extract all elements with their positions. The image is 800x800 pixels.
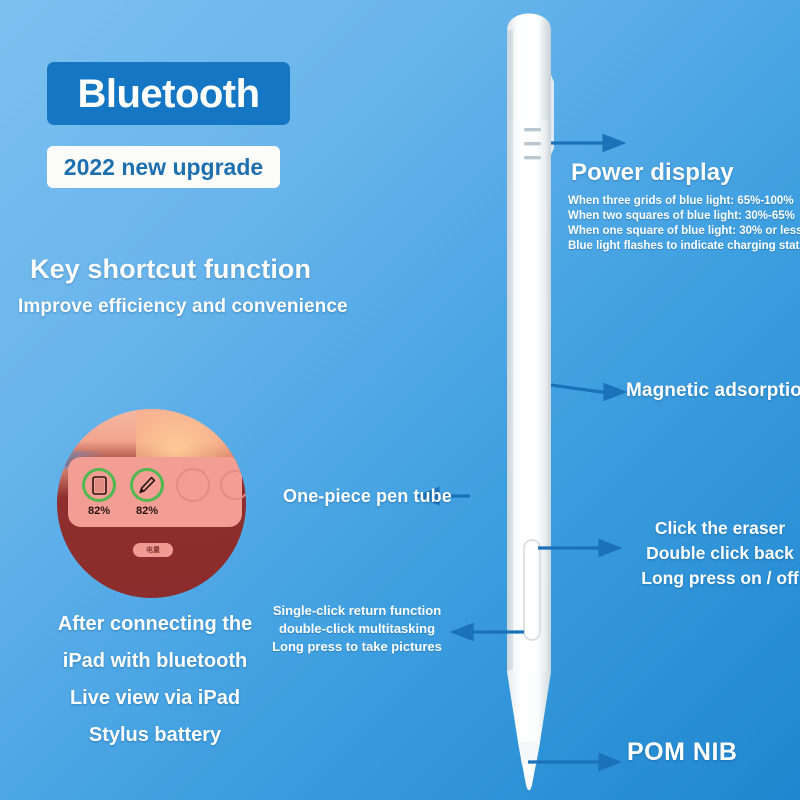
power-display-line: When two squares of blue light: 30%-65% bbox=[568, 209, 800, 224]
infographic-canvas: Bluetooth 2022 new upgrade Key shortcut … bbox=[0, 0, 800, 800]
click-function-line: Single-click return function bbox=[272, 602, 442, 620]
button-function-line: Long press on / off bbox=[640, 566, 800, 591]
button-functions-list: Click the eraser Double click back Long … bbox=[640, 516, 800, 591]
caption-line: iPad with bluetooth bbox=[20, 643, 290, 680]
pencil-icon bbox=[133, 471, 161, 499]
button-function-line: Click the eraser bbox=[640, 516, 800, 541]
bluetooth-badge: Bluetooth bbox=[47, 62, 290, 125]
bluetooth-badge-subtitle-box: 2022 new upgrade bbox=[47, 146, 280, 188]
power-display-line: When one square of blue light: 30% or le… bbox=[568, 224, 800, 239]
click-function-line: Long press to take pictures bbox=[272, 638, 442, 656]
power-display-line: When three grids of blue light: 65%-100% bbox=[568, 194, 800, 209]
battery-pill-label: 电量 bbox=[133, 543, 173, 557]
power-display-line: Blue light flashes to indicate charging … bbox=[568, 239, 800, 254]
caption-line: Live view via iPad bbox=[20, 680, 290, 717]
inset-caption: After connecting the iPad with bluetooth… bbox=[20, 606, 290, 754]
battery-widget-card: 82% 82% bbox=[68, 457, 242, 527]
label-magnetic-adsorption: Magnetic adsorption bbox=[626, 380, 800, 402]
power-display-list: When three grids of blue light: 65%-100%… bbox=[568, 194, 800, 254]
click-functions-list: Single-click return function double-clic… bbox=[272, 602, 442, 656]
bluetooth-badge-subtitle: 2022 new upgrade bbox=[64, 156, 263, 179]
label-one-piece-pen-tube: One-piece pen tube bbox=[283, 486, 452, 507]
battery-cell-empty-1 bbox=[176, 468, 210, 502]
click-function-line: double-click multitasking bbox=[272, 620, 442, 638]
battery-cell-ipad bbox=[82, 468, 116, 502]
battery-cell-empty-2 bbox=[220, 470, 246, 500]
bluetooth-badge-title: Bluetooth bbox=[77, 74, 259, 114]
headline-subtitle: Improve efficiency and convenience bbox=[18, 296, 348, 318]
caption-line: Stylus battery bbox=[20, 717, 290, 754]
caption-line: After connecting the bbox=[20, 606, 290, 643]
headline-title: Key shortcut function bbox=[30, 254, 311, 285]
ipad-battery-widget-inset: 82% 82% 电量 bbox=[57, 409, 246, 598]
battery-percent-pencil: 82% bbox=[130, 505, 164, 517]
ipad-icon bbox=[85, 471, 113, 499]
button-function-line: Double click back bbox=[640, 541, 800, 566]
label-pom-nib: POM NIB bbox=[627, 738, 737, 767]
battery-percent-ipad: 82% bbox=[82, 505, 116, 517]
power-display-title: Power display bbox=[571, 159, 734, 187]
battery-cell-pencil bbox=[130, 468, 164, 502]
